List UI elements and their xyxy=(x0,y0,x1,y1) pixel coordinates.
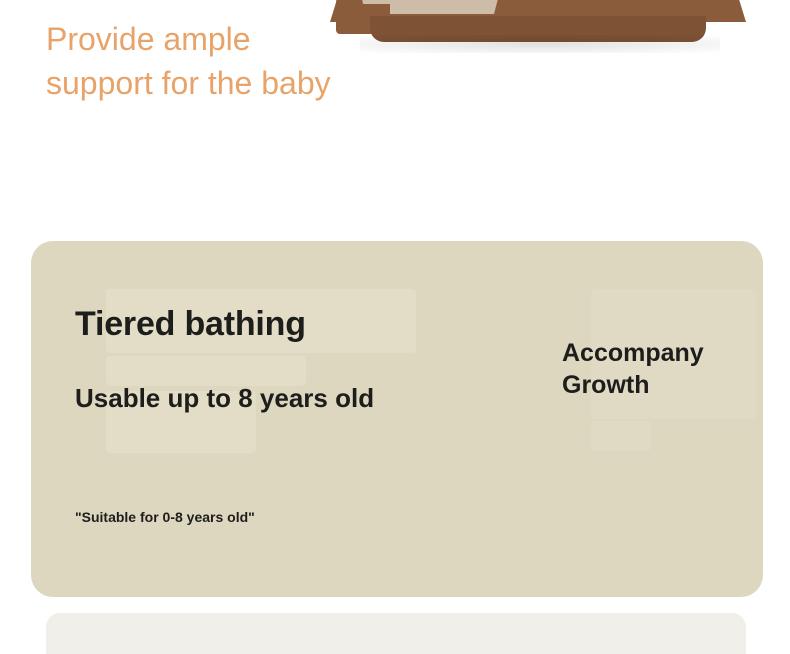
card-texture-blotch xyxy=(106,289,416,353)
product-photo xyxy=(320,0,790,172)
top-promo-section: Provide ample support for the baby xyxy=(0,0,790,172)
card-texture-blotch xyxy=(591,421,651,451)
promo-headline: Provide ample support for the baby xyxy=(46,18,336,105)
bottom-panel xyxy=(46,613,746,654)
card-texture-blotch xyxy=(106,356,306,386)
card-texture-blotch xyxy=(106,391,256,453)
bath-tub-illustration xyxy=(330,0,750,70)
card-texture-blotch xyxy=(591,289,756,419)
tub-drop-shadow xyxy=(360,35,720,53)
feature-card xyxy=(31,241,763,597)
